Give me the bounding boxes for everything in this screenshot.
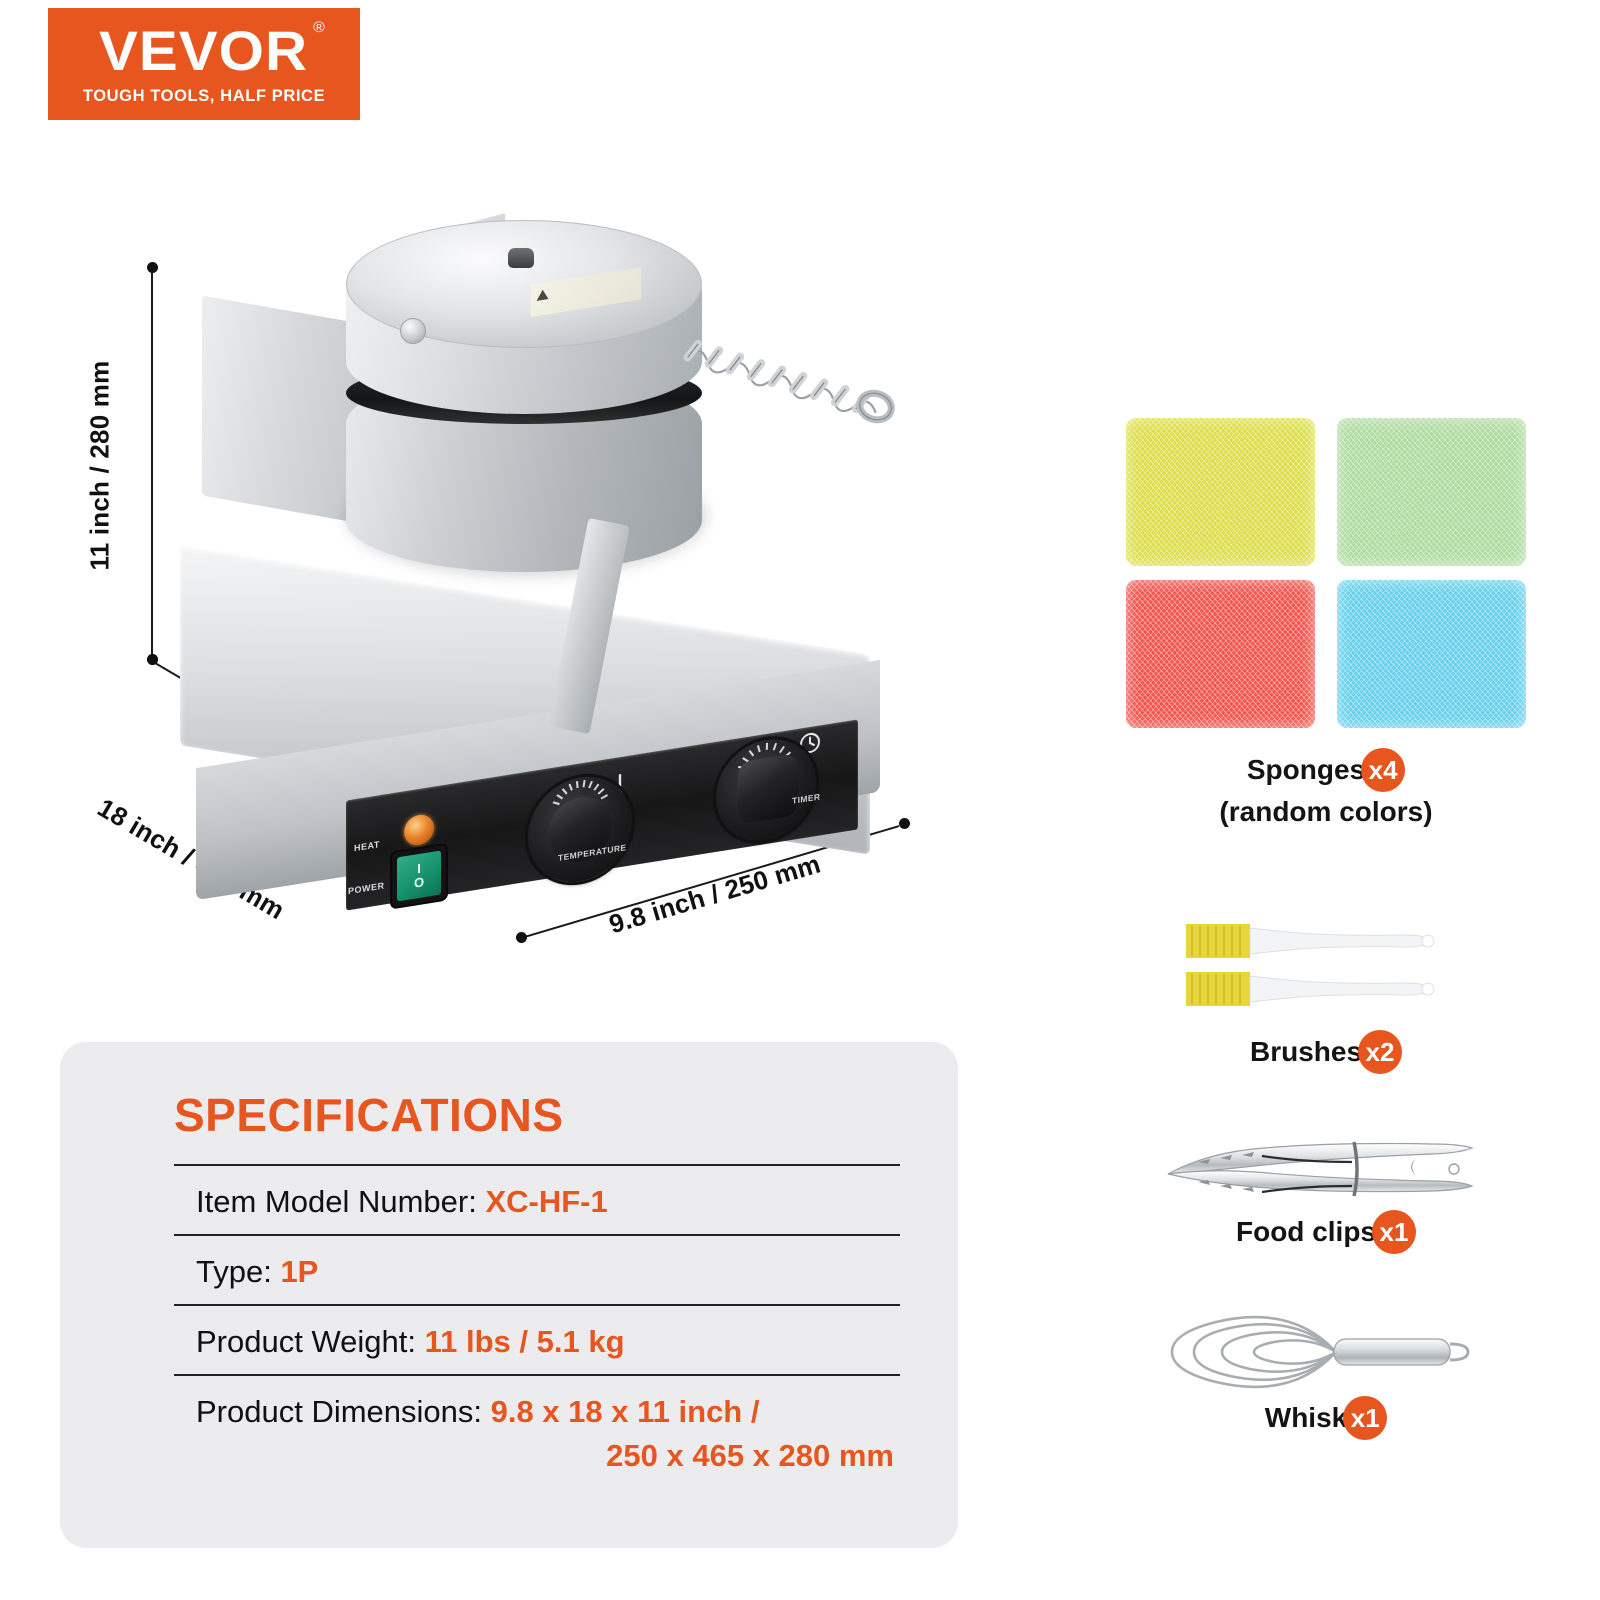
food-clips-quantity-badge: x1: [1372, 1210, 1416, 1254]
whisk-label: Whisk: [1265, 1402, 1347, 1434]
width-dimension-dot-left: [516, 932, 527, 943]
food-clips-image: [1158, 1122, 1488, 1212]
spec-value-model: XC-HF-1: [485, 1184, 607, 1219]
food-clips-label-row: Food clips x1: [1126, 1210, 1526, 1254]
spec-label-weight: Product Weight:: [196, 1324, 425, 1359]
lid-latch-knob-icon: [508, 248, 534, 268]
sponge-yellow: [1126, 418, 1315, 566]
spec-label-model: Item Model Number:: [196, 1184, 485, 1219]
spec-row-type: Type: 1P: [174, 1234, 900, 1304]
specifications-panel: SPECIFICATIONS Item Model Number: XC-HF-…: [60, 1042, 958, 1548]
height-dimension-label: 11 inch / 280 mm: [84, 361, 115, 571]
spec-row-weight: Product Weight: 11 lbs / 5.1 kg: [174, 1304, 900, 1374]
power-switch-off-mark: O: [414, 875, 424, 890]
hinge-bolt-left: [400, 318, 426, 344]
spec-value-dimensions: 9.8 x 18 x 11 inch /: [491, 1394, 760, 1429]
sponges-label: Sponges: [1247, 754, 1365, 786]
whisk-quantity-badge: x1: [1343, 1396, 1387, 1440]
spec-value-type: 1P: [280, 1254, 318, 1289]
brushes-quantity-badge: x2: [1358, 1030, 1402, 1074]
brushes-label: Brushes: [1250, 1036, 1362, 1068]
power-switch-face[interactable]: I O: [397, 850, 441, 901]
power-label: POWER: [348, 880, 385, 896]
brand-name: VEVOR ®: [99, 23, 308, 79]
brand-name-text: VEVOR: [99, 19, 308, 82]
sponges-image-group: [1126, 418, 1526, 728]
heat-label: HEAT: [354, 839, 380, 853]
power-switch[interactable]: I O: [392, 845, 446, 908]
whisk-caption: Whisk x1: [1126, 1396, 1526, 1440]
heat-indicator-light: [404, 813, 434, 848]
brushes-caption: Brushes x2: [1126, 1030, 1526, 1074]
sponges-quantity-badge: x4: [1361, 748, 1405, 792]
sponges-note: (random colors): [1126, 796, 1526, 828]
sponge-red: [1126, 580, 1315, 728]
spec-value-weight: 11 lbs / 5.1 kg: [425, 1324, 625, 1359]
sponges-caption: Sponges x4 (random colors): [1126, 748, 1526, 828]
whisk-image: [1150, 1302, 1490, 1402]
sponges-label-row: Sponges x4: [1126, 748, 1526, 792]
whisk-label-row: Whisk x1: [1126, 1396, 1526, 1440]
temperature-dial[interactable]: [528, 769, 632, 889]
specifications-title: SPECIFICATIONS: [174, 1088, 564, 1142]
food-clips-label: Food clips: [1236, 1216, 1376, 1248]
sponge-green: [1337, 418, 1526, 566]
spec-label-type: Type:: [196, 1254, 280, 1289]
specifications-list: Item Model Number: XC-HF-1 Type: 1P Prod…: [174, 1164, 900, 1488]
vevor-logo: VEVOR ® TOUGH TOOLS, HALF PRICE: [48, 8, 360, 120]
spec-label-dimensions: Product Dimensions:: [196, 1394, 491, 1429]
brushes-image: [1178, 918, 1478, 1014]
brand-tagline: TOUGH TOOLS, HALF PRICE: [83, 87, 325, 106]
spec-value-dimensions-metric: 250 x 465 x 280 mm: [196, 1434, 900, 1478]
spec-row-model: Item Model Number: XC-HF-1: [174, 1164, 900, 1234]
brushes-label-row: Brushes x2: [1126, 1030, 1526, 1074]
timer-dial-knob[interactable]: [738, 753, 798, 825]
sponge-blue: [1337, 580, 1526, 728]
timer-dial[interactable]: [716, 732, 816, 848]
registered-mark-icon: ®: [314, 20, 327, 35]
spec-row-dimensions: Product Dimensions: 9.8 x 18 x 11 inch /…: [174, 1374, 900, 1488]
infographic-page: VEVOR ® TOUGH TOOLS, HALF PRICE 11 inch …: [0, 0, 1600, 1600]
product-image-area: 11 inch / 280 mm 18 inch / 465 mm 9.8 in…: [0, 150, 1020, 1000]
waffle-maker-illustration: HEAT I O POWER: [150, 220, 910, 920]
food-clips-caption: Food clips x1: [1126, 1210, 1526, 1254]
